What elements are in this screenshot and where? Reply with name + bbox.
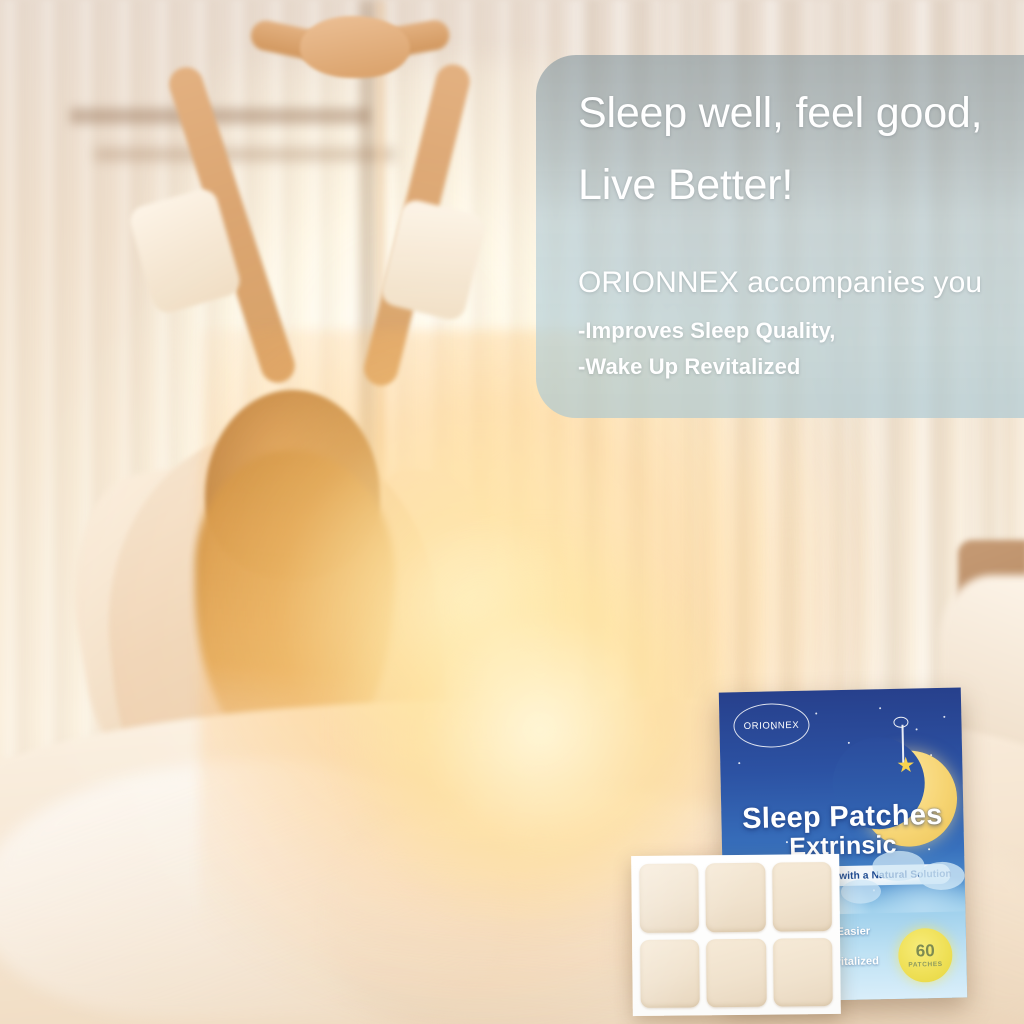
- patch-item: [706, 863, 766, 932]
- patch-item: [639, 863, 699, 932]
- benefit-list: -Improves Sleep Quality, -Wake Up Revita…: [578, 313, 1006, 385]
- patch-item: [706, 938, 766, 1007]
- promo-banner: Sleep well, feel good, Live Better! ORIO…: [0, 0, 1024, 1024]
- patch-item: [772, 862, 832, 931]
- patch-count-number: 60: [916, 942, 935, 959]
- subheadline: ORIONNEX accompanies you: [578, 263, 1006, 303]
- patch-item: [640, 939, 700, 1008]
- headline-line-1: Sleep well, feel good,: [578, 77, 1006, 149]
- marketing-text-panel: Sleep well, feel good, Live Better! ORIO…: [536, 55, 1024, 418]
- patch-sheet: [631, 854, 841, 1016]
- brand-logo-text: ORIONNEX: [744, 719, 800, 731]
- patch-count-label: PATCHES: [908, 961, 942, 969]
- benefit-item-1: -Improves Sleep Quality,: [578, 313, 1006, 349]
- benefit-item-2: -Wake Up Revitalized: [578, 349, 1006, 385]
- patch-item: [773, 937, 833, 1006]
- headline-line-2: Live Better!: [578, 149, 1006, 221]
